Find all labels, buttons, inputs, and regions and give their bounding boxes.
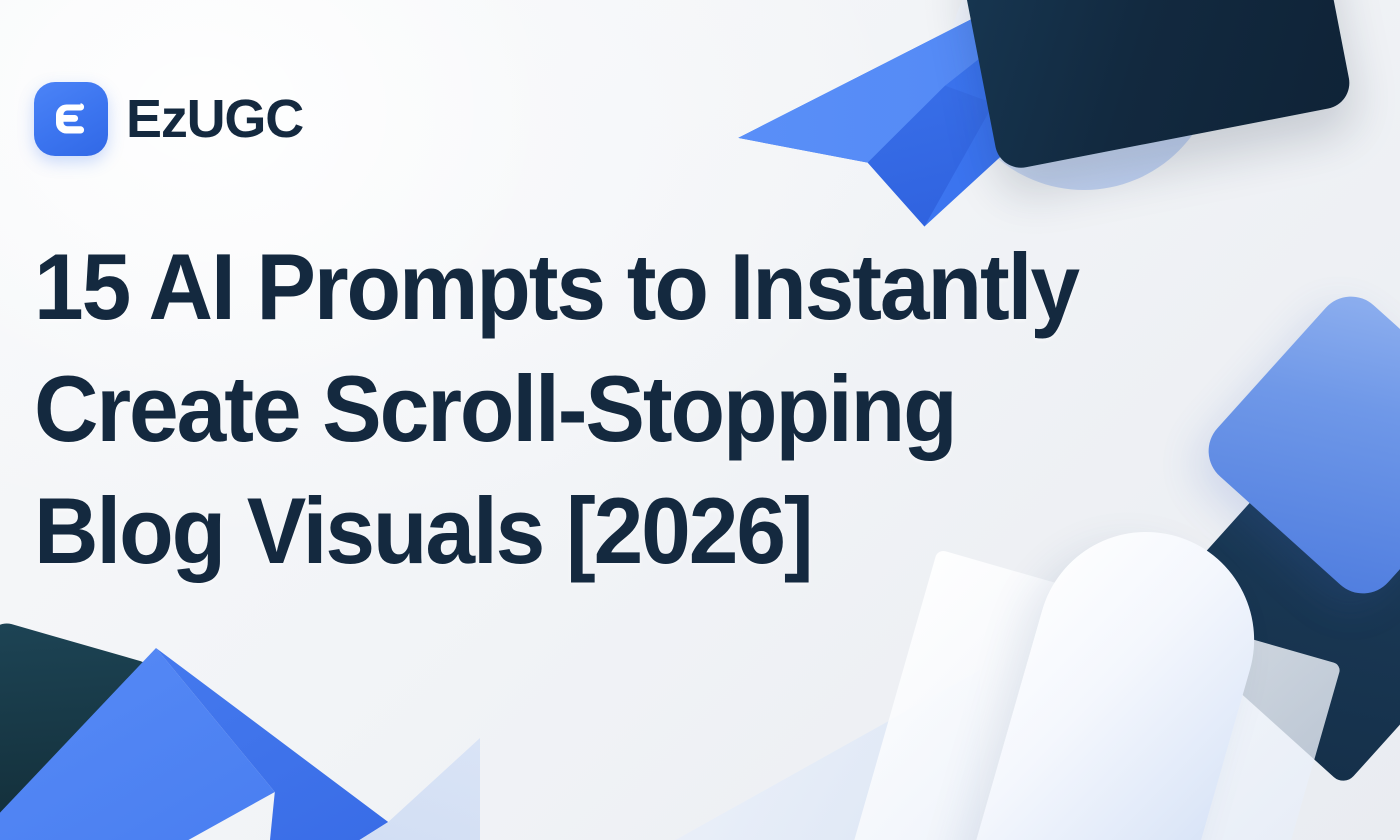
brand-name: EzUGC — [126, 92, 303, 146]
headline-line-1: 15 AI Prompts to Instantly — [34, 226, 1307, 348]
ezugc-c-mark-icon — [34, 82, 108, 156]
headline-line-2: Create Scroll-Stopping — [34, 348, 1307, 470]
cover-content: EzUGC 15 AI Prompts to Instantly Create … — [0, 0, 1400, 840]
headline-line-3: Blog Visuals [2026] — [34, 470, 1307, 592]
blog-cover-canvas: EzUGC 15 AI Prompts to Instantly Create … — [0, 0, 1400, 840]
brand-lockup[interactable]: EzUGC — [34, 82, 303, 156]
page-title: 15 AI Prompts to Instantly Create Scroll… — [34, 226, 1374, 593]
